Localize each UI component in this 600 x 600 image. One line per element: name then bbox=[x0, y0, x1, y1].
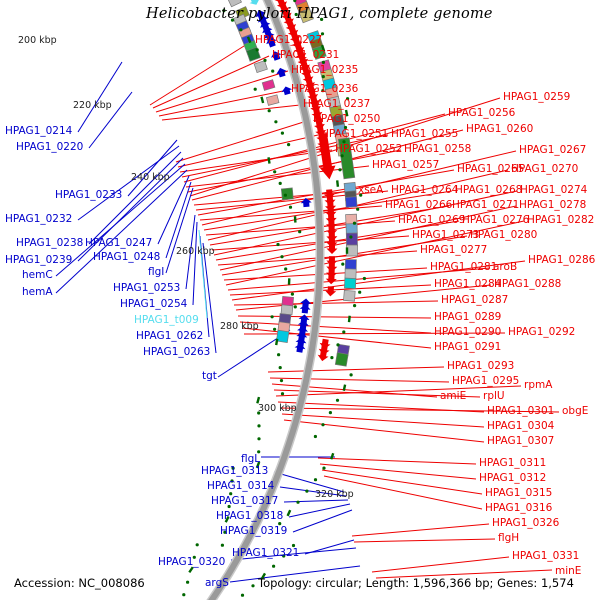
scale-tick-dash bbox=[344, 385, 345, 391]
reverse-gene-label[interactable]: tgt bbox=[202, 371, 217, 382]
scale-tick-dot bbox=[273, 328, 276, 331]
reverse-gene-label[interactable]: HPAG1_0317 bbox=[211, 496, 278, 507]
forward-gene-label[interactable]: HPAG1_0260 bbox=[466, 124, 533, 135]
label-leader-line bbox=[284, 500, 348, 502]
forward-gene-label[interactable]: HPAG1_0278 bbox=[519, 200, 586, 211]
scale-tick-dot bbox=[342, 330, 345, 333]
forward-gene-label[interactable]: obgE bbox=[562, 406, 588, 417]
forward-gene-label[interactable]: HPAG1_0266 bbox=[385, 200, 452, 211]
reverse-gene-label[interactable]: HPAG1_0314 bbox=[207, 481, 274, 492]
scale-tick-dot bbox=[254, 88, 257, 91]
gene-feature-box[interactable] bbox=[345, 197, 357, 208]
scale-tick-dot bbox=[350, 373, 353, 376]
forward-gene-label[interactable]: HPAG1_0289 bbox=[434, 312, 501, 323]
forward-gene-label[interactable]: HPAG1_0267 bbox=[519, 145, 586, 156]
label-leader-line bbox=[162, 105, 300, 120]
reverse-gene-label[interactable]: HPAG1_0248 bbox=[93, 252, 160, 263]
forward-gene-label[interactable]: HPAG1_0258 bbox=[404, 144, 471, 155]
reverse-gene-label[interactable]: flgI bbox=[148, 267, 164, 278]
rna-gene-arrow[interactable] bbox=[250, 0, 260, 5]
scale-tick-dot bbox=[277, 353, 280, 356]
gene-feature-box[interactable] bbox=[276, 330, 289, 343]
gene-feature-box[interactable] bbox=[344, 278, 356, 289]
reverse-gene-label[interactable]: HPAG1_0232 bbox=[5, 214, 72, 225]
forward-gene-label[interactable]: HPAG1_0268 bbox=[455, 185, 522, 196]
forward-gene-label[interactable]: HPAG1_0227 bbox=[255, 35, 322, 46]
scale-tick-dot bbox=[273, 170, 276, 173]
scale-tick-dot bbox=[358, 291, 361, 294]
gene-feature-box[interactable] bbox=[254, 61, 267, 73]
label-leader-line bbox=[238, 316, 431, 318]
scale-tick-dash bbox=[262, 97, 264, 103]
scale-tick-dot bbox=[298, 230, 301, 233]
forward-gene-label[interactable]: HPAG1_0250 bbox=[313, 114, 380, 125]
forward-gene-label[interactable]: HPAG1_0231 bbox=[272, 50, 339, 61]
forward-gene-label[interactable]: HPAG1_0331 bbox=[512, 551, 579, 562]
reverse-strand-gene-arrow[interactable] bbox=[295, 343, 306, 352]
reverse-gene-label[interactable]: hemA bbox=[22, 287, 53, 298]
label-leader-line bbox=[268, 367, 444, 372]
rna-gene-label[interactable]: HPAG1_t009 bbox=[134, 315, 199, 326]
forward-gene-label[interactable]: HPAG1_0259 bbox=[503, 92, 570, 103]
scale-tick-dot bbox=[296, 501, 299, 504]
forward-gene-label[interactable]: HPAG1_0252 bbox=[335, 144, 402, 155]
scale-tick-dot bbox=[341, 263, 344, 266]
forward-gene-label[interactable]: HPAG1_0312 bbox=[479, 473, 546, 484]
scale-tick-dot bbox=[338, 168, 341, 171]
gene-feature-box[interactable] bbox=[344, 290, 356, 301]
scale-tick-dot bbox=[289, 206, 292, 209]
scale-tick-dot bbox=[271, 70, 274, 73]
forward-gene-label[interactable]: HPAG1_0264 bbox=[391, 185, 458, 196]
scale-tick-dot bbox=[221, 544, 224, 547]
label-leader-line bbox=[293, 510, 352, 532]
scale-tick-dot bbox=[349, 235, 352, 238]
scale-tick-dot bbox=[279, 366, 282, 369]
forward-gene-label[interactable]: HPAG1_0290 bbox=[434, 327, 501, 338]
reverse-gene-label[interactable]: HPAG1_0313 bbox=[201, 466, 268, 477]
label-leader-line bbox=[284, 420, 484, 442]
forward-strand-gene-arrow[interactable] bbox=[327, 244, 338, 254]
reverse-gene-label[interactable]: HPAG1_0263 bbox=[143, 347, 210, 358]
reverse-gene-label[interactable]: HPAG1_0238 bbox=[16, 238, 83, 249]
scale-tick-dash bbox=[288, 510, 291, 516]
scale-tick-label: 300 kbp bbox=[258, 403, 297, 414]
reverse-gene-label[interactable]: HPAG1_0214 bbox=[5, 126, 72, 137]
forward-gene-label[interactable]: HPAG1_0255 bbox=[391, 129, 458, 140]
page-title: Helicobacter pylori HPAG1, complete geno… bbox=[146, 6, 493, 22]
label-leader-line bbox=[212, 236, 409, 250]
label-leader-line bbox=[270, 378, 449, 382]
scale-tick-label: 220 kbp bbox=[73, 100, 112, 111]
forward-gene-label[interactable]: HPAG1_0271 bbox=[452, 200, 519, 211]
forward-gene-label[interactable]: HPAG1_0311 bbox=[479, 458, 546, 469]
scale-tick-dot bbox=[284, 267, 287, 270]
reverse-gene-label[interactable]: HPAG1_0239 bbox=[5, 255, 72, 266]
label-leader-line bbox=[193, 222, 197, 305]
label-leader-line bbox=[320, 464, 476, 479]
scale-tick-dot bbox=[280, 255, 283, 258]
reverse-gene-label[interactable]: HPAG1_0319 bbox=[220, 526, 287, 537]
forward-strand-gene-arrow[interactable] bbox=[318, 133, 335, 179]
reverse-gene-label[interactable]: HPAG1_0220 bbox=[16, 142, 83, 153]
forward-gene-label[interactable]: HPAG1_0251 bbox=[321, 129, 388, 140]
scale-tick-dot bbox=[329, 411, 332, 414]
reverse-strand-gene-arrow[interactable] bbox=[276, 68, 287, 78]
scale-tick-dash bbox=[349, 316, 350, 322]
forward-gene-label[interactable]: HPAG1_0274 bbox=[520, 185, 587, 196]
reverse-gene-label[interactable]: HPAG1_0320 bbox=[158, 557, 225, 568]
label-leader-line bbox=[318, 458, 476, 464]
scale-tick-dot bbox=[257, 424, 260, 427]
scale-tick-dot bbox=[336, 343, 339, 346]
scale-tick-dot bbox=[279, 182, 282, 185]
forward-gene-label[interactable]: HPAG1_0307 bbox=[487, 436, 554, 447]
scale-tick-dot bbox=[305, 490, 308, 493]
gene-feature-box[interactable] bbox=[266, 95, 279, 106]
scale-tick-dot bbox=[284, 194, 287, 197]
scale-tick-dot bbox=[268, 109, 271, 112]
gene-feature-box[interactable] bbox=[281, 188, 293, 200]
gene-feature-box[interactable] bbox=[335, 353, 348, 367]
label-leader-line bbox=[282, 414, 484, 427]
forward-gene-label[interactable]: rplU bbox=[483, 391, 505, 402]
scale-tick-dot bbox=[287, 143, 290, 146]
forward-gene-label[interactable]: HPAG1_0301 bbox=[487, 406, 554, 417]
genome-map-viewer: Helicobacter pylori HPAG1, complete geno… bbox=[0, 0, 600, 600]
forward-gene-label[interactable]: HPAG1_0236 bbox=[291, 84, 358, 95]
scale-tick-label: 240 kbp bbox=[131, 172, 170, 183]
gene-feature-box[interactable] bbox=[345, 260, 356, 270]
reverse-strand-gene-arrow[interactable] bbox=[300, 304, 311, 313]
gene-feature-box[interactable] bbox=[346, 233, 357, 246]
label-leader-line bbox=[150, 41, 252, 105]
scale-tick-dot bbox=[291, 293, 294, 296]
forward-gene-label[interactable]: HPAG1_0304 bbox=[487, 421, 554, 432]
forward-gene-label[interactable]: aroB bbox=[493, 262, 517, 273]
scale-tick-dot bbox=[263, 59, 266, 62]
scale-tick-dot bbox=[274, 120, 277, 123]
reverse-gene-label[interactable]: HPAG1_0318 bbox=[216, 511, 283, 522]
reverse-gene-label[interactable]: HPAG1_0254 bbox=[120, 299, 187, 310]
scale-tick-dot bbox=[322, 467, 325, 470]
reverse-gene-label[interactable]: hemC bbox=[22, 270, 53, 281]
forward-gene-label[interactable]: HPAG1_0284 bbox=[434, 279, 501, 290]
forward-gene-label[interactable]: amiE bbox=[440, 391, 466, 402]
forward-gene-label[interactable]: rpmA bbox=[524, 380, 552, 391]
gene-feature-box[interactable] bbox=[345, 269, 356, 279]
reverse-gene-label[interactable]: flgL bbox=[241, 454, 260, 465]
forward-strand-gene-arrow[interactable] bbox=[326, 274, 337, 284]
forward-gene-label[interactable]: HPAG1_0315 bbox=[485, 488, 552, 499]
topology-text: Topology: circular; Length: 1,596,366 bp… bbox=[258, 576, 574, 590]
forward-gene-label[interactable]: HPAG1_0277 bbox=[420, 245, 487, 256]
scale-tick-dot bbox=[330, 356, 333, 359]
reverse-gene-label[interactable]: HPAG1_0253 bbox=[113, 283, 180, 294]
forward-gene-label[interactable]: HPAG1_0291 bbox=[434, 342, 501, 353]
forward-gene-label[interactable]: HPAG1_0316 bbox=[485, 503, 552, 514]
forward-gene-label[interactable]: HPAG1_0326 bbox=[492, 518, 559, 529]
scale-tick-dot bbox=[356, 208, 359, 211]
label-leader-line bbox=[354, 539, 495, 542]
scale-tick-label: 320 kbp bbox=[315, 489, 354, 500]
scale-tick-dot bbox=[256, 48, 259, 51]
forward-gene-label[interactable]: HPAG1_0256 bbox=[448, 108, 515, 119]
scale-tick-dot bbox=[336, 399, 339, 402]
forward-gene-label[interactable]: xseA bbox=[358, 185, 383, 196]
label-leader-line bbox=[166, 188, 193, 273]
scale-tick-dot bbox=[363, 277, 366, 280]
label-leader-line bbox=[240, 322, 431, 333]
label-leader-line bbox=[78, 62, 122, 132]
forward-gene-label[interactable]: HPAG1_0286 bbox=[528, 255, 595, 266]
scale-tick-dot bbox=[272, 565, 275, 568]
forward-gene-label[interactable]: HPAG1_0269 bbox=[398, 215, 465, 226]
forward-gene-label[interactable]: HPAG1_0270 bbox=[511, 164, 578, 175]
label-leader-line bbox=[352, 524, 489, 536]
forward-gene-label[interactable]: HPAG1_0257 bbox=[372, 160, 439, 171]
accession-text: Accession: NC_008086 bbox=[14, 576, 145, 590]
label-leader-line bbox=[372, 557, 509, 572]
scale-tick-dash bbox=[269, 157, 270, 163]
forward-gene-label[interactable]: HPAG1_0276 bbox=[462, 215, 529, 226]
scale-tick-dash bbox=[337, 180, 338, 186]
label-leader-line bbox=[234, 301, 438, 305]
scale-tick-dot bbox=[281, 392, 284, 395]
reverse-gene-label[interactable]: HPAG1_0247 bbox=[85, 238, 152, 249]
scale-tick-dot bbox=[314, 435, 317, 438]
forward-gene-label[interactable]: HPAG1_0280 bbox=[470, 230, 537, 241]
forward-gene-label[interactable]: flgH bbox=[498, 533, 519, 544]
forward-gene-label[interactable]: HPAG1_0293 bbox=[447, 361, 514, 372]
reverse-gene-label[interactable]: HPAG1_0321 bbox=[232, 548, 299, 559]
scale-tick-dot bbox=[314, 478, 317, 481]
forward-gene-label[interactable]: HPAG1_0237 bbox=[303, 99, 370, 110]
scale-tick-dot bbox=[353, 304, 356, 307]
scale-tick-dot bbox=[271, 315, 274, 318]
scale-tick-dot bbox=[281, 132, 284, 135]
forward-gene-label[interactable]: HPAG1_0281 bbox=[430, 262, 497, 273]
forward-gene-label[interactable]: HPAG1_0235 bbox=[291, 65, 358, 76]
scale-tick-dot bbox=[280, 379, 283, 382]
scale-tick-dot bbox=[294, 305, 297, 308]
scale-tick-dot bbox=[239, 28, 242, 31]
scale-tick-label: 280 kbp bbox=[220, 321, 259, 332]
label-leader-line bbox=[186, 166, 369, 187]
scale-tick-label: 200 kbp bbox=[18, 35, 57, 46]
scale-tick-dot bbox=[196, 543, 199, 546]
scale-tick-label: 260 kbp bbox=[176, 246, 215, 257]
reverse-gene-label[interactable]: HPAG1_0262 bbox=[136, 331, 203, 342]
forward-gene-label[interactable]: HPAG1_0282 bbox=[527, 215, 594, 226]
gene-feature-box[interactable] bbox=[262, 80, 275, 91]
scale-tick-dot bbox=[353, 222, 356, 225]
footer-bar: Accession: NC_008086 Topology: circular;… bbox=[0, 572, 600, 600]
forward-gene-label[interactable]: HPAG1_0287 bbox=[441, 295, 508, 306]
scale-tick-dot bbox=[321, 423, 324, 426]
scale-tick-dot bbox=[276, 243, 279, 246]
forward-gene-label[interactable]: HPAG1_0288 bbox=[494, 279, 561, 290]
scale-tick-dash bbox=[276, 339, 277, 345]
forward-gene-label[interactable]: HPAG1_0292 bbox=[508, 327, 575, 338]
scale-tick-dot bbox=[257, 437, 260, 440]
forward-gene-label[interactable]: HPAG1_0295 bbox=[452, 376, 519, 387]
gene-feature-box[interactable] bbox=[281, 305, 293, 315]
reverse-gene-label[interactable]: HPAG1_0233 bbox=[55, 190, 122, 201]
label-leader-line bbox=[289, 504, 350, 517]
